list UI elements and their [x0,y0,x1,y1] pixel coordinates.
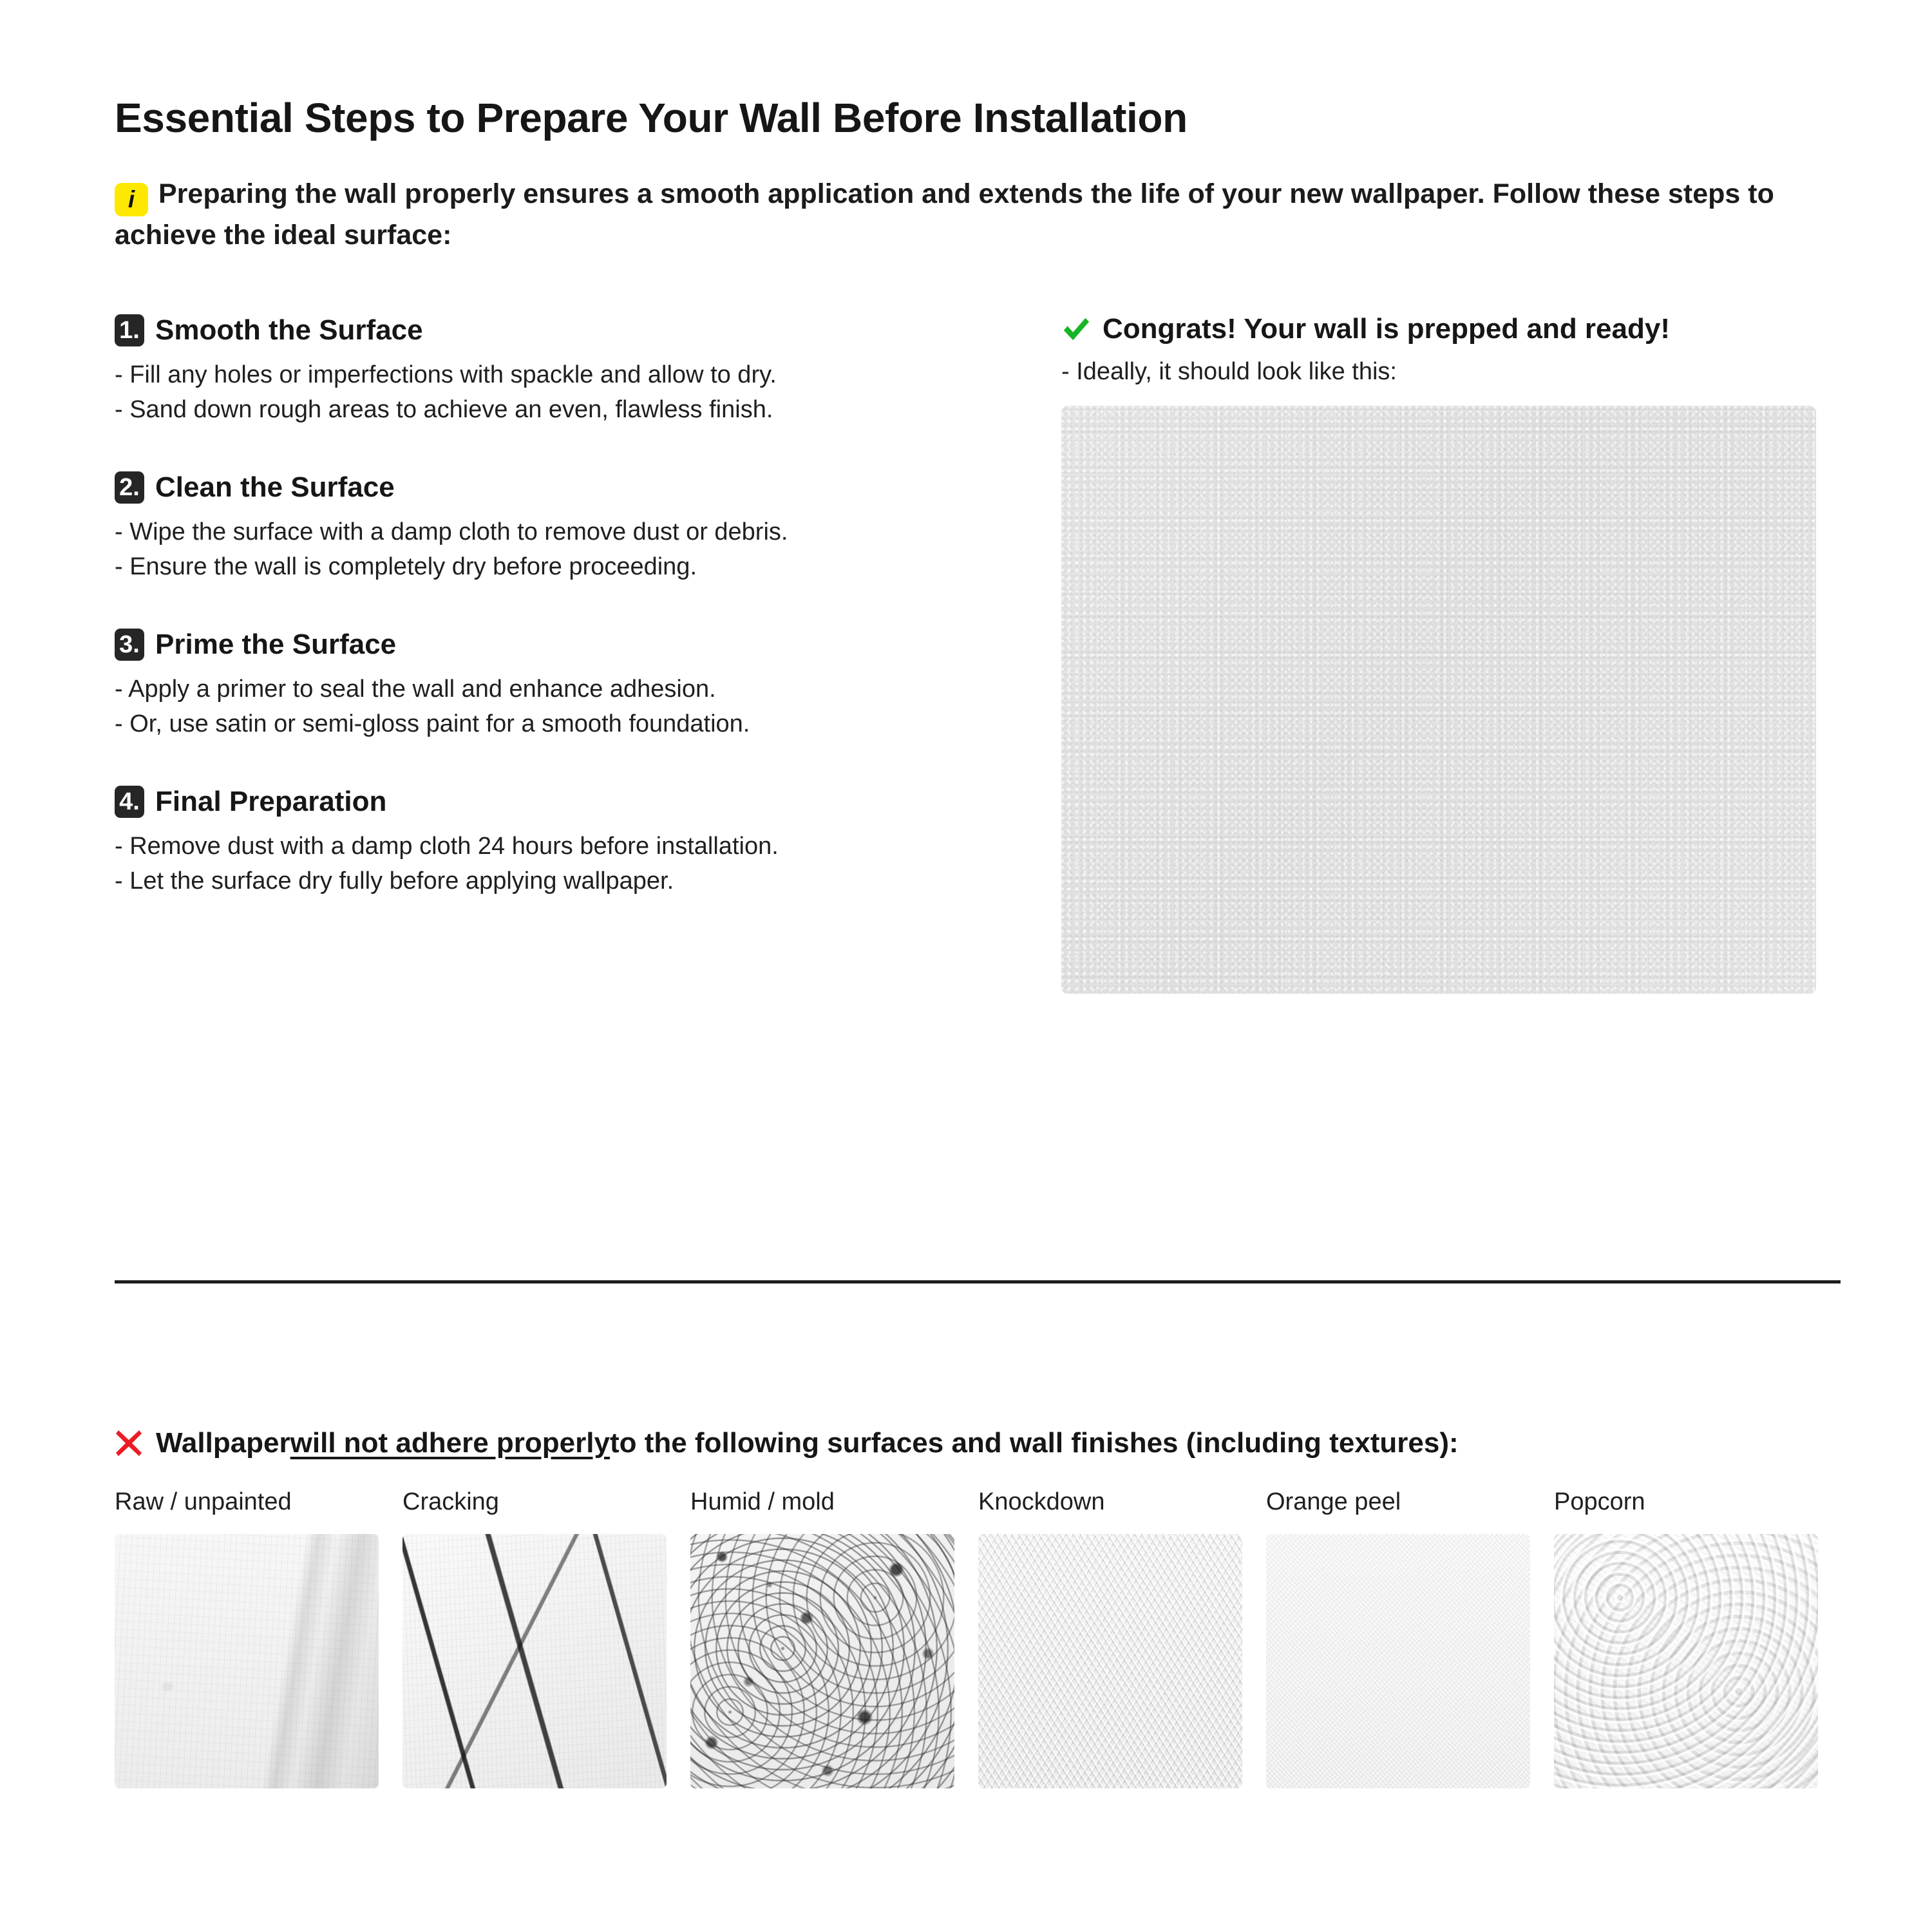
step-3-line-2: - Or, use satin or semi-gloss paint for … [115,707,1061,742]
step-1-heading: 1. Smooth the Surface [115,314,1061,346]
step-4-title: Final Preparation [155,787,386,817]
step-3-heading: 3. Prime the Surface [115,629,1061,661]
bad-surfaces-section: Wallpaper will not adhere properly to th… [115,1428,1841,1788]
step-4: 4. Final Preparation - Remove dust with … [115,786,1061,899]
ideal-wall-image [1061,406,1816,994]
congrats-title: Congrats! Your wall is prepped and ready… [1103,314,1670,344]
swatch-label-raw-unpainted: Raw / unpainted [115,1489,401,1516]
step-3-line-1: - Apply a primer to seal the wall and en… [115,672,1061,707]
info-icon: i [115,183,148,216]
swatch-image-raw-unpainted [115,1534,379,1788]
warning-text-underlined: will not adhere properly [290,1428,610,1458]
swatch-popcorn: Popcorn [1554,1489,1841,1788]
swatch-image-knockdown [978,1534,1242,1788]
step-2-line-1: - Wipe the surface with a damp cloth to … [115,515,1061,550]
intro-paragraph: iPreparing the wall properly ensures a s… [115,175,1817,254]
warning-text-after: to the following surfaces and wall finis… [610,1428,1459,1458]
congrats-column: Congrats! Your wall is prepped and ready… [1061,314,1821,993]
swatch-image-popcorn [1554,1534,1818,1788]
swatch-label-knockdown: Knockdown [978,1489,1265,1516]
step-4-number-badge: 4. [115,786,144,818]
swatch-raw-unpainted: Raw / unpainted [115,1489,401,1788]
swatch-label-cracking: Cracking [402,1489,689,1516]
step-1: 1. Smooth the Surface - Fill any holes o… [115,314,1061,428]
steps-column: 1. Smooth the Surface - Fill any holes o… [115,314,1061,899]
red-x-icon [115,1429,143,1457]
swatch-label-humid-mold: Humid / mold [690,1489,977,1516]
warning-text-before: Wallpaper [156,1428,290,1458]
step-1-line-1: - Fill any holes or imperfections with s… [115,358,1061,393]
content-columns: 1. Smooth the Surface - Fill any holes o… [115,314,1817,993]
step-3-number-badge: 3. [115,629,144,661]
step-1-title: Smooth the Surface [155,316,423,345]
step-2: 2. Clean the Surface - Wipe the surface … [115,471,1061,585]
section-divider [115,1280,1841,1283]
step-2-heading: 2. Clean the Surface [115,471,1061,504]
intro-text: Preparing the wall properly ensures a sm… [115,178,1774,251]
step-3: 3. Prime the Surface - Apply a primer to… [115,629,1061,742]
step-1-number-badge: 1. [115,314,144,346]
swatch-image-humid-mold [690,1534,954,1788]
step-2-number-badge: 2. [115,471,144,504]
swatch-cracking: Cracking [402,1489,689,1788]
swatch-image-orange-peel [1266,1534,1530,1788]
green-check-icon [1061,316,1091,344]
swatch-image-cracking [402,1534,667,1788]
step-2-title: Clean the Surface [155,473,395,502]
bad-surface-swatches: Raw / unpainted Cracking Humid / mold Kn… [115,1489,1841,1788]
step-3-title: Prime the Surface [155,630,396,659]
step-4-line-2: - Let the surface dry fully before apply… [115,864,1061,899]
step-1-line-2: - Sand down rough areas to achieve an ev… [115,393,1061,428]
step-2-line-2: - Ensure the wall is completely dry befo… [115,550,1061,585]
swatch-label-popcorn: Popcorn [1554,1489,1841,1516]
warning-heading: Wallpaper will not adhere properly to th… [115,1428,1841,1458]
step-4-heading: 4. Final Preparation [115,786,1061,818]
step-4-line-1: - Remove dust with a damp cloth 24 hours… [115,829,1061,864]
swatch-humid-mold: Humid / mold [690,1489,977,1788]
wall-prep-infographic: Essential Steps to Prepare Your Wall Bef… [0,0,1932,1932]
congrats-subtitle: - Ideally, it should look like this: [1061,355,1821,389]
congrats-heading: Congrats! Your wall is prepped and ready… [1061,314,1821,344]
swatch-label-orange-peel: Orange peel [1266,1489,1553,1516]
swatch-knockdown: Knockdown [978,1489,1265,1788]
swatch-orange-peel: Orange peel [1266,1489,1553,1788]
page-title: Essential Steps to Prepare Your Wall Bef… [115,0,1817,140]
